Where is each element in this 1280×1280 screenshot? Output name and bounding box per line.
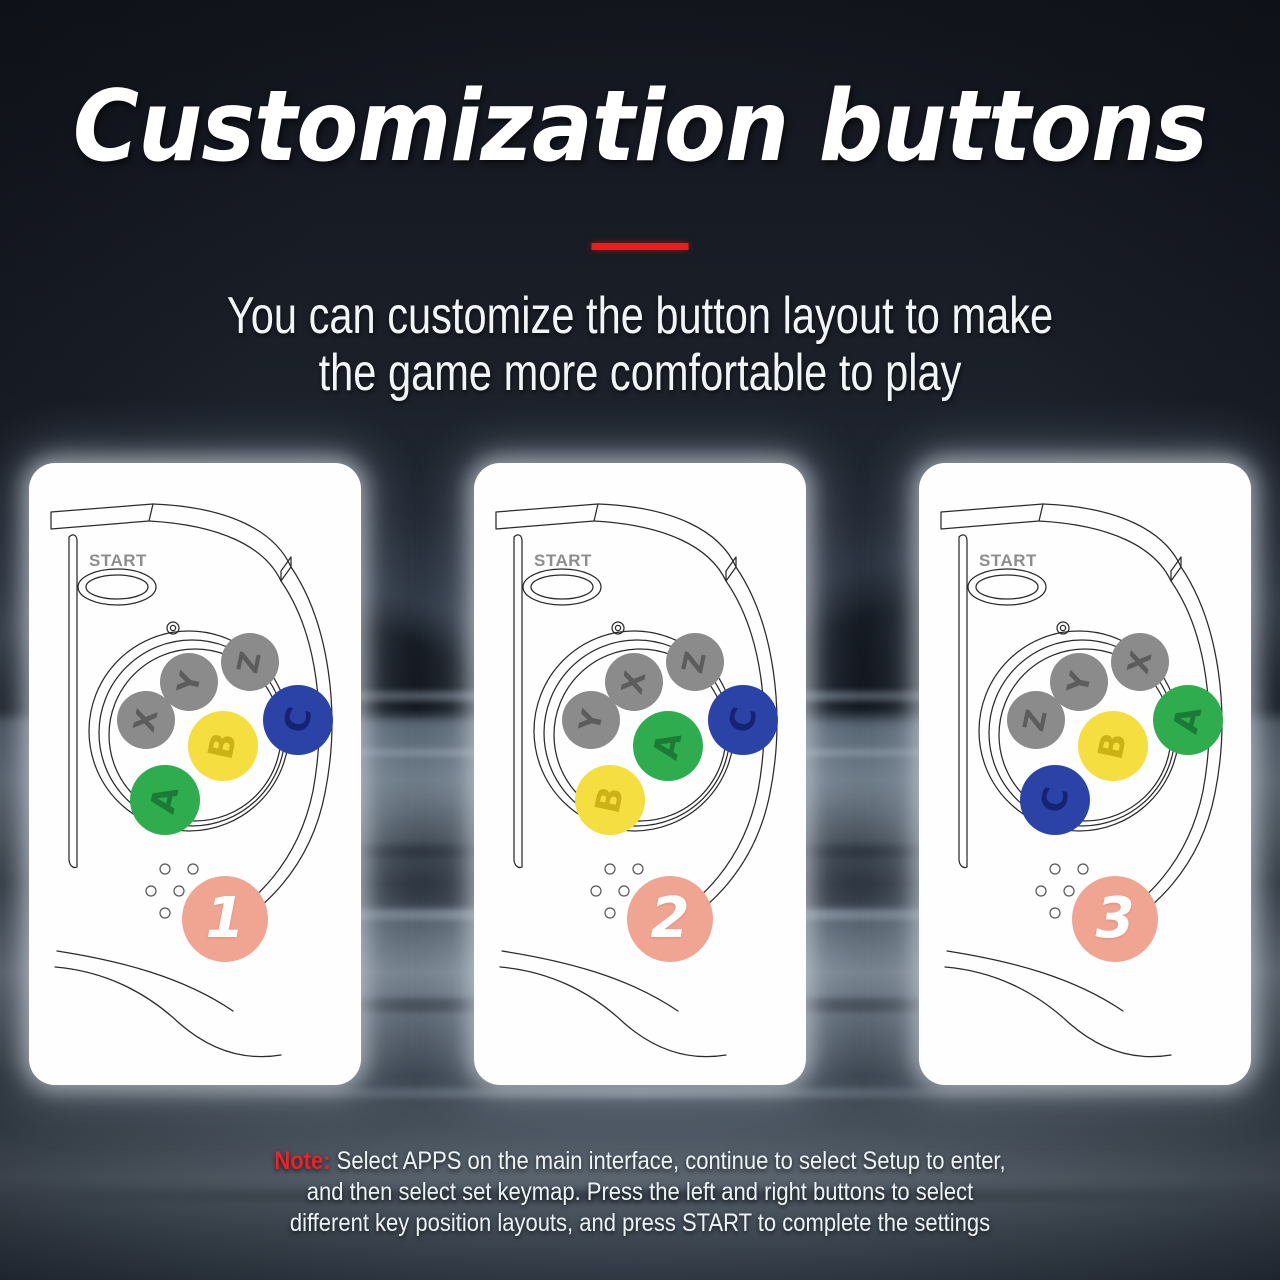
action-button-b[interactable]: B <box>1078 711 1148 781</box>
layout-number: 3 <box>1096 891 1135 947</box>
action-button-label: Z <box>679 649 712 676</box>
page-title: Customization buttons <box>51 78 1229 176</box>
note-line-1: Note: Select APPS on the main interface,… <box>209 1146 1071 1177</box>
promo-page: Customization buttons You can customize … <box>0 0 1280 1280</box>
layout-number-badge: 1 <box>182 876 268 962</box>
controller-outline <box>29 463 361 1085</box>
action-button-b[interactable]: B <box>188 711 258 781</box>
layout-number: 1 <box>206 891 245 947</box>
action-button-label: B <box>591 784 630 816</box>
start-label: START <box>89 551 147 571</box>
note-line-3: different key position layouts, and pres… <box>209 1208 1071 1239</box>
action-button-c[interactable]: C <box>1020 765 1090 835</box>
note-text: Note: Select APPS on the main interface,… <box>209 1146 1071 1239</box>
action-button-label: A <box>649 730 688 763</box>
action-button-label: C <box>1036 784 1074 815</box>
subtitle-line-1: You can customize the button layout to m… <box>200 288 1080 345</box>
action-button-label: X <box>129 706 162 734</box>
action-button-x[interactable]: X <box>1111 633 1169 691</box>
action-button-label: B <box>1094 730 1133 762</box>
action-button-label: Z <box>1020 707 1053 734</box>
controller-illustration <box>474 463 806 1085</box>
controller-illustration <box>29 463 361 1085</box>
action-button-label: Y <box>575 707 608 734</box>
action-button-c[interactable]: C <box>708 685 778 755</box>
controller-illustration <box>919 463 1251 1085</box>
action-button-y[interactable]: Y <box>160 653 218 711</box>
action-button-label: Y <box>1063 669 1096 696</box>
action-button-label: Z <box>234 649 267 676</box>
layout-number-badge: 2 <box>627 876 713 962</box>
start-label: START <box>979 551 1037 571</box>
page-subtitle: You can customize the button layout to m… <box>200 288 1080 402</box>
controller-outline <box>474 463 806 1085</box>
layout-card-2[interactable]: STARTYXZCAB2 <box>474 463 806 1085</box>
action-button-label: C <box>724 704 762 735</box>
note-line-1-text: Select APPS on the main interface, conti… <box>331 1147 1006 1175</box>
action-button-label: X <box>617 668 650 696</box>
layout-card-list: STARTXYZCBA1 STARTYXZCAB2 <box>0 463 1280 1085</box>
action-button-a[interactable]: A <box>633 711 703 781</box>
note-line-2: and then select set keymap. Press the le… <box>209 1177 1071 1208</box>
controller-outline <box>919 463 1251 1085</box>
layout-number: 2 <box>651 891 690 947</box>
action-button-x[interactable]: X <box>605 653 663 711</box>
layout-card-3[interactable]: STARTZYXABC3 <box>919 463 1251 1085</box>
action-button-y[interactable]: Y <box>1050 653 1108 711</box>
note-label: Note: <box>274 1147 330 1175</box>
action-button-z[interactable]: Z <box>666 633 724 691</box>
action-button-label: A <box>146 784 185 817</box>
subtitle-line-2: the game more comfortable to play <box>200 345 1080 402</box>
action-button-label: A <box>1169 704 1208 737</box>
action-button-a[interactable]: A <box>1153 685 1223 755</box>
layout-card-1[interactable]: STARTXYZCBA1 <box>29 463 361 1085</box>
start-label: START <box>534 551 592 571</box>
layout-number-badge: 3 <box>1072 876 1158 962</box>
action-button-z[interactable]: Z <box>221 633 279 691</box>
action-button-label: X <box>1123 648 1156 676</box>
title-divider <box>592 243 689 250</box>
action-button-label: B <box>204 730 243 762</box>
action-button-label: Y <box>173 669 206 696</box>
action-button-c[interactable]: C <box>263 685 333 755</box>
action-button-label: C <box>279 704 317 735</box>
action-button-a[interactable]: A <box>130 765 200 835</box>
action-button-b[interactable]: B <box>575 765 645 835</box>
